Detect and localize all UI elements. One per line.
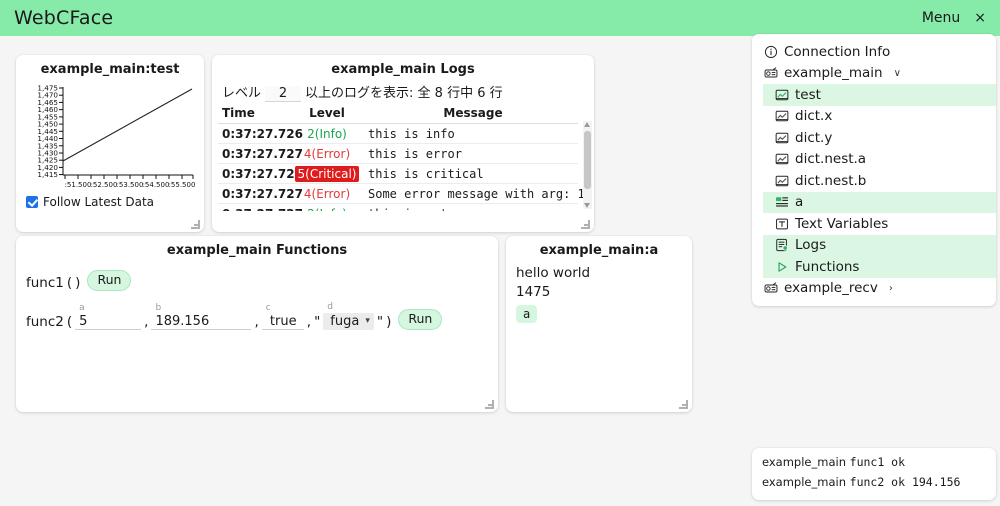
play-icon — [775, 260, 789, 274]
sidebar-item-a[interactable]: a — [763, 192, 996, 214]
sidebar-item-functions[interactable]: Functions — [763, 256, 996, 278]
log-message: Some error message with arg: 1 — [360, 184, 578, 204]
logs-panel-resize-handle[interactable] — [582, 221, 591, 230]
arg-input-a[interactable]: a 5 — [75, 314, 141, 330]
sidebar-item-label: dict.nest.a — [795, 151, 866, 167]
log-level-input[interactable]: 2 — [265, 86, 301, 102]
log-table-scrollbar[interactable] — [583, 121, 592, 209]
sidebar-item-test[interactable]: test — [763, 84, 996, 106]
sidebar-item-label: test — [795, 87, 821, 103]
arg-value-a: 5 — [79, 314, 87, 329]
arg-label-d: d — [327, 302, 333, 312]
arg-label-b: b — [155, 303, 161, 313]
sidebar-item-label: Connection Info — [784, 44, 890, 60]
comma-3: , — [307, 314, 311, 330]
value-panel-title: example_main:a — [506, 236, 692, 262]
chevron-right-icon[interactable]: › — [889, 283, 893, 294]
log-time: 0:37:27.727 — [218, 164, 294, 184]
sidebar: Connection Info example_main ∨ test — [752, 34, 996, 306]
svg-text::53.500: :53.500 — [117, 181, 144, 189]
table-row: 0:37:27.727 2(Info) this is ostream — [218, 204, 578, 212]
arg-label-a: a — [79, 303, 85, 313]
value-number: 1475 — [506, 284, 692, 300]
server-icon — [764, 281, 778, 295]
arg-input-c[interactable]: c true — [262, 314, 304, 330]
sidebar-item-dict-nest-b[interactable]: dict.nest.b — [763, 170, 996, 192]
log-table: Time Level Message 0:37:27.726 2(Info) t… — [218, 105, 578, 211]
log-level-badge: 2(Info) — [307, 207, 347, 212]
chart-icon — [775, 131, 789, 145]
arg-value-c: true — [270, 314, 297, 329]
text-icon — [775, 217, 789, 231]
function-name-func1: func1 — [26, 275, 64, 291]
logs-icon — [775, 238, 789, 252]
toast-message: func1 ok — [850, 455, 905, 469]
toast-prefix: example_main — [762, 455, 850, 469]
log-message: this is info — [360, 124, 578, 144]
log-level-badge: 4(Error) — [304, 147, 350, 161]
value-text: hello world — [506, 265, 692, 281]
header-menu-area: Menu × — [922, 10, 986, 26]
toast-message: func2 ok 194.156 — [850, 475, 961, 489]
chart-panel: example_main:test — [16, 55, 204, 232]
log-level-badge: 5(Critical) — [295, 166, 360, 182]
value-panel: example_main:a hello world 1475 a — [506, 236, 692, 412]
sidebar-item-example-recv[interactable]: example_recv › — [752, 278, 996, 300]
scroll-down-arrow-icon[interactable] — [584, 203, 590, 208]
sidebar-item-label: Logs — [795, 237, 826, 253]
scrollbar-thumb[interactable] — [584, 131, 591, 189]
quote-close: " — [377, 314, 383, 330]
follow-latest-data-row[interactable]: Follow Latest Data — [16, 195, 204, 209]
sidebar-item-text-variables[interactable]: Text Variables — [763, 213, 996, 235]
app-title: WebCFace — [14, 7, 113, 29]
log-message: this is critical — [360, 164, 578, 184]
comma-1: , — [144, 314, 148, 330]
sidebar-item-example-main[interactable]: example_main ∨ — [752, 63, 996, 85]
log-message: this is error — [360, 144, 578, 164]
arg-select-d-wrap: d fuga ▾ — [323, 313, 374, 330]
log-level: 2(Info) — [294, 204, 360, 212]
paren-open: ( — [67, 314, 72, 330]
arg-select-d[interactable]: fuga ▾ — [323, 313, 374, 330]
toast-line: example_main func1 ok — [762, 455, 996, 469]
svg-text::52.500: :52.500 — [91, 181, 118, 189]
log-level: 4(Error) — [294, 144, 360, 164]
line-chart: 1,475 1,470 1,465 1,460 1,455 1,450 1,44… — [16, 81, 204, 193]
function-row-func1: func1 ( ) Run — [16, 270, 498, 291]
paren-close: ) — [386, 314, 391, 330]
function-row-func2: func2 ( a 5 , b 189.156 , c true , " d f… — [16, 309, 498, 330]
svg-text::54.500: :54.500 — [143, 181, 170, 189]
server-icon — [764, 66, 778, 80]
chevron-down-icon: ▾ — [365, 316, 370, 326]
menu-button[interactable]: Menu — [922, 10, 960, 26]
app-header: WebCFace Menu × — [0, 0, 1000, 36]
chevron-down-icon[interactable]: ∨ — [894, 68, 901, 79]
arg-value-b: 189.156 — [155, 314, 209, 329]
log-level: 5(Critical) — [294, 164, 360, 184]
logs-panel: example_main Logs レベル 2 以上のログを表示: 全 8 行中… — [212, 55, 594, 232]
sidebar-item-label: dict.x — [795, 108, 832, 124]
arg-value-d: fuga — [330, 314, 359, 329]
log-filter-suffix-label: 以上のログを表示: 全 8 行中 6 行 — [305, 82, 503, 101]
sidebar-item-logs[interactable]: Logs — [763, 235, 996, 257]
scroll-up-arrow-icon[interactable] — [584, 122, 590, 127]
functions-panel-resize-handle[interactable] — [486, 401, 495, 410]
arg-label-c: c — [266, 303, 271, 313]
log-time: 0:37:27.727 — [218, 184, 294, 204]
logs-panel-title: example_main Logs — [212, 55, 594, 81]
log-time: 0:37:27.727 — [218, 204, 294, 212]
toast-line: example_main func2 ok 194.156 — [762, 475, 996, 489]
log-col-time: Time — [218, 105, 294, 124]
log-level: 2(Info) — [294, 124, 360, 144]
sidebar-item-dict-nest-a[interactable]: dict.nest.a — [763, 149, 996, 171]
info-circle-icon — [764, 45, 778, 59]
function-name-func2: func2 — [26, 314, 64, 330]
log-message: this is ostream — [360, 204, 578, 212]
follow-latest-data-label: Follow Latest Data — [43, 195, 154, 209]
sidebar-item-label: example_main — [784, 65, 883, 81]
arg-input-b[interactable]: b 189.156 — [151, 314, 251, 330]
sidebar-item-connection-info[interactable]: Connection Info — [752, 41, 996, 63]
log-table-scroll-area[interactable]: Time Level Message 0:37:27.726 2(Info) t… — [218, 105, 592, 211]
comma-2: , — [254, 314, 258, 330]
sidebar-item-label: a — [795, 194, 803, 210]
paren-open: ( — [67, 275, 72, 291]
table-row: 0:37:27.727 4(Error) this is error — [218, 144, 578, 164]
sidebar-item-label: dict.nest.b — [795, 173, 866, 189]
log-time: 0:37:27.726 — [218, 124, 294, 144]
table-row: 0:37:27.727 5(Critical) this is critical — [218, 164, 578, 184]
chart-svg: 1,475 1,470 1,465 1,460 1,455 1,450 1,44… — [16, 81, 204, 193]
close-icon[interactable]: × — [974, 10, 986, 26]
log-time: 0:37:27.727 — [218, 144, 294, 164]
chart-panel-resize-handle[interactable] — [192, 221, 201, 230]
notification-toast: example_main func1 ok example_main func2… — [752, 448, 996, 500]
paren-close: ) — [75, 275, 80, 291]
quote-open: " — [314, 314, 320, 330]
table-row: 0:37:27.727 4(Error) Some error message … — [218, 184, 578, 204]
sidebar-item-label: example_recv — [784, 280, 878, 296]
functions-panel: example_main Functions func1 ( ) Run fun… — [16, 236, 498, 412]
sidebar-item-dict-x[interactable]: dict.x — [763, 106, 996, 128]
log-level: 4(Error) — [294, 184, 360, 204]
log-level-badge: 2(Info) — [307, 127, 347, 141]
follow-latest-data-checkbox[interactable] — [26, 196, 38, 208]
chart-icon — [775, 174, 789, 188]
toast-prefix: example_main — [762, 475, 850, 489]
log-level-filter: レベル 2 以上のログを表示: 全 8 行中 6 行 — [212, 81, 594, 105]
app-root: WebCFace Menu × example_main:test — [0, 0, 1000, 506]
chart-icon — [775, 152, 789, 166]
chart-icon — [775, 88, 789, 102]
sidebar-item-label: Functions — [795, 259, 859, 275]
chart-icon — [775, 109, 789, 123]
log-col-message: Message — [360, 105, 578, 124]
sidebar-item-label: dict.y — [795, 130, 832, 146]
log-table-header-row: Time Level Message — [218, 105, 578, 124]
sidebar-item-dict-y[interactable]: dict.y — [763, 127, 996, 149]
svg-text::55.500: :55.500 — [169, 181, 196, 189]
svg-text:1,415: 1,415 — [37, 170, 58, 179]
table-row: 0:37:27.726 2(Info) this is info — [218, 124, 578, 144]
run-button-func2[interactable]: Run — [398, 309, 442, 330]
log-col-level: Level — [294, 105, 360, 124]
value-badge: a — [516, 305, 537, 323]
functions-panel-title: example_main Functions — [16, 236, 498, 262]
svg-text::51.500: :51.500 — [65, 181, 92, 189]
view-icon — [775, 195, 789, 209]
value-panel-resize-handle[interactable] — [680, 401, 689, 410]
sidebar-item-label: Text Variables — [795, 216, 888, 232]
chart-panel-title: example_main:test — [16, 55, 204, 81]
log-filter-prefix-label: レベル — [222, 82, 261, 101]
run-button-func1[interactable]: Run — [87, 270, 131, 291]
log-level-badge: 4(Error) — [304, 187, 350, 201]
